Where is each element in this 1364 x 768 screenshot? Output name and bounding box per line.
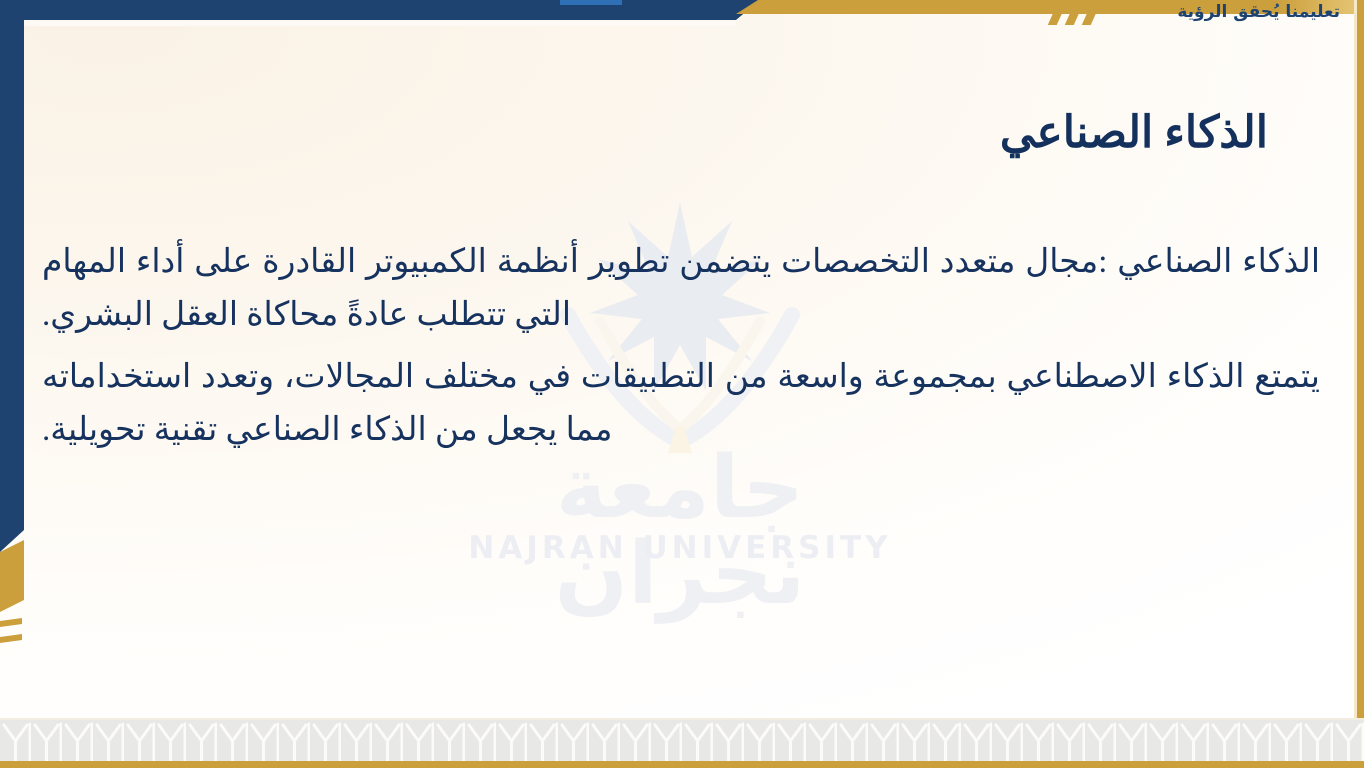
vision-tagline: تعليمنا يُحقق الرؤية: [1177, 2, 1340, 22]
top-gold-slashes-decoration: [1054, 0, 1174, 22]
top-inner-notch: [22, 20, 736, 26]
slide-title: الذكاء الصناعي: [568, 105, 1268, 160]
top-blue-accent: [560, 0, 622, 5]
slide-body: الذكاء الصناعي :مجال متعدد التخصصات يتضم…: [42, 236, 1320, 466]
right-frame-border: [1357, 0, 1364, 768]
bottom-gold-line: [0, 761, 1364, 768]
body-paragraph-2: يتمتع الذكاء الاصطناعي بمجموعة واسعة من …: [42, 351, 1320, 458]
left-gold-block: [0, 540, 24, 612]
left-navy-bar: [0, 0, 24, 552]
presentation-slide: جامعة نجران NAJRAN UNIVERSITY تعليمنا يُ…: [0, 0, 1364, 768]
top-navy-band: [0, 0, 760, 20]
branching-pattern-icon: [0, 720, 1364, 761]
bottom-pattern-band: [0, 720, 1364, 761]
body-paragraph-1: الذكاء الصناعي :مجال متعدد التخصصات يتضم…: [42, 236, 1320, 343]
